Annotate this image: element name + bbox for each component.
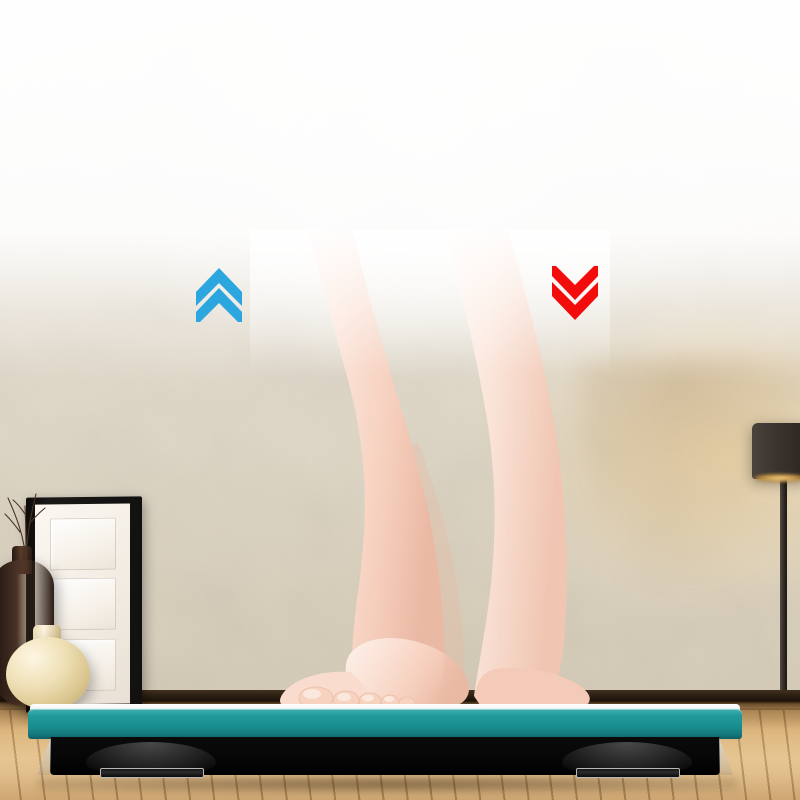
scale-floor-shadow bbox=[38, 776, 738, 792]
double-chevron-down-icon bbox=[548, 266, 602, 322]
floor-lamp-pole bbox=[780, 470, 787, 710]
dried-branches-decor bbox=[0, 480, 66, 560]
scale-pad-left bbox=[100, 768, 204, 778]
bathroom-scene-photo bbox=[0, 0, 800, 800]
double-chevron-up-icon bbox=[192, 266, 246, 322]
product-poster: Intelligent induction on off Convenience… bbox=[0, 0, 800, 800]
scale-glass-top bbox=[28, 709, 742, 739]
frame-panel bbox=[50, 578, 116, 631]
floor-lamp-shade-icon bbox=[752, 423, 800, 479]
cream-vase bbox=[6, 637, 90, 709]
scale-pad-right bbox=[576, 768, 680, 778]
bathroom-scale bbox=[28, 704, 742, 784]
